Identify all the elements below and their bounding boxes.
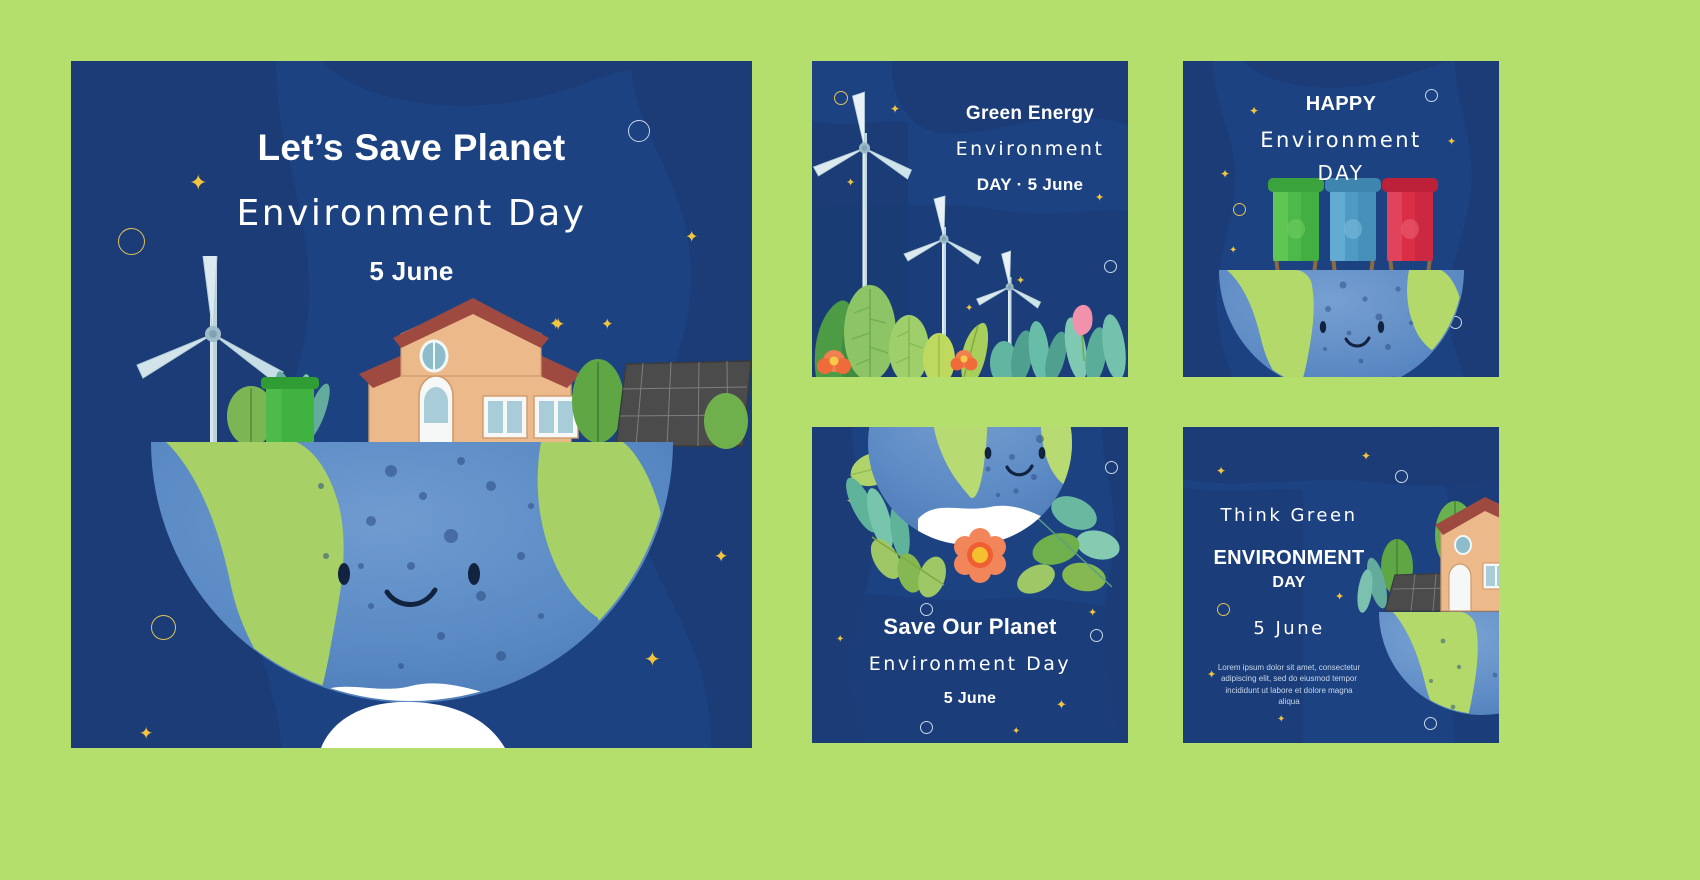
leaves-and-flowers-icon	[815, 285, 1128, 377]
save-line-2: Environment Day	[812, 653, 1128, 676]
think-body-text: Lorem ipsum dolor sit amet, consectetur …	[1189, 662, 1389, 708]
decorative-ring	[684, 364, 708, 388]
orange-flower-icon	[951, 350, 978, 371]
think-line-3: DAY	[1189, 574, 1389, 592]
happy-line-1: HAPPY	[1183, 93, 1499, 116]
sparkle-icon: ✦	[1012, 727, 1020, 737]
green-energy-line-1: Green Energy	[940, 103, 1120, 125]
green-energy-line-2: Environment	[940, 138, 1120, 161]
sparkle-icon: ✦	[1421, 186, 1430, 197]
orange-flower-icon	[817, 350, 851, 374]
recycle-bin-icon	[261, 377, 319, 444]
green-energy-post[interactable]: ✦ ✦ ✦ ✦ ✦	[812, 61, 1128, 377]
sparkle-icon: ✦	[139, 726, 153, 743]
house-icon	[1435, 497, 1499, 611]
decorative-ring	[1104, 260, 1117, 273]
orange-flower-icon	[954, 528, 1006, 583]
smiling-globe-icon	[151, 442, 673, 730]
sparkle-icon: ✦	[1361, 450, 1371, 462]
leaf-wreath-icon	[840, 446, 951, 601]
solar-panel-icon	[1385, 573, 1457, 611]
sparkle-icon: ✦	[1016, 275, 1025, 286]
decorative-ring	[834, 91, 848, 105]
smiling-globe-icon	[1219, 270, 1464, 377]
sparkle-icon: ✦	[1216, 465, 1226, 477]
sparkle-icon: ✦	[551, 317, 565, 334]
hero-text-block: Let’s Save Planet Environment Day 5 June	[71, 127, 752, 287]
sparkle-icon: ✦	[179, 441, 196, 461]
decorative-ring	[1105, 461, 1118, 474]
red-recycle-bin	[1382, 178, 1438, 261]
sparkle-icon: ✦	[1277, 715, 1285, 725]
think-line-2: ENVIRONMENT	[1189, 547, 1389, 570]
wind-turbine-icon	[814, 92, 912, 361]
hero-line-3: 5 June	[71, 257, 752, 287]
sparkle-icon: ✦	[644, 649, 661, 669]
sparkle-icon: ✦	[846, 177, 855, 188]
decorative-ring	[1031, 327, 1042, 338]
smiling-globe-icon	[1379, 612, 1499, 739]
happy-line-3: DAY	[1183, 161, 1499, 185]
poster-board: ✦ ✦ ✦ ✦ ✦ ✦ ✦ ✦ ✦	[0, 0, 1700, 880]
hero-illustration	[71, 256, 752, 748]
happy-environment-day-post[interactable]: ✦ ✦ ✦ ✦ ✦	[1183, 61, 1499, 377]
decorative-ring	[836, 316, 847, 327]
decorative-ring	[1395, 470, 1408, 483]
think-line-1: Think Green	[1189, 505, 1389, 527]
green-energy-line-3: DAY · 5 June	[940, 175, 1120, 195]
green-energy-text-block: Green Energy Environment DAY · 5 June	[940, 103, 1120, 194]
sparkle-icon: ✦	[846, 495, 856, 507]
save-line-1: Save Our Planet	[812, 614, 1128, 639]
green-recycle-bin	[1268, 178, 1324, 261]
leaf-wreath-icon	[1012, 490, 1122, 600]
decorative-ring	[151, 615, 176, 640]
sparkle-icon: ✦	[965, 304, 973, 314]
happy-text-block: HAPPY Environment DAY	[1183, 93, 1499, 185]
decorative-ring	[1449, 316, 1462, 329]
think-line-4: 5 June	[1189, 618, 1389, 640]
sparkle-icon: ✦	[890, 103, 900, 115]
bush-icon	[227, 369, 335, 446]
smiling-globe-icon	[868, 427, 1082, 545]
solar-panel-icon	[616, 361, 751, 446]
think-green-post[interactable]: ✦ ✦ ✦ ✦ ✦	[1183, 427, 1499, 743]
think-text-block: Think Green ENVIRONMENT DAY 5 June Lorem…	[1189, 505, 1389, 708]
house-icon	[359, 298, 581, 446]
sparkle-icon: ✦	[714, 549, 728, 566]
decorative-ring	[1233, 203, 1246, 216]
save-text-block: Save Our Planet Environment Day 5 June	[812, 614, 1128, 708]
bush-icon	[572, 359, 624, 446]
wind-turbine-icon	[904, 196, 981, 367]
polar-ice-cap	[71, 678, 752, 748]
lets-save-planet-post[interactable]: ✦ ✦ ✦ ✦ ✦ ✦ ✦ ✦ ✦	[71, 61, 752, 748]
happy-line-2: Environment	[1183, 128, 1499, 153]
hero-line-1: Let’s Save Planet	[71, 127, 752, 170]
decorative-ring	[1424, 717, 1437, 730]
blue-recycle-bin	[1325, 178, 1381, 261]
wind-turbine-icon	[977, 251, 1041, 373]
decorative-ring	[920, 721, 933, 734]
save-line-3: 5 June	[812, 690, 1128, 708]
sparkle-icon: ✦	[549, 316, 562, 332]
sparkle-icon: ✦	[601, 317, 614, 332]
save-our-planet-post[interactable]: ✦ ✦ ✦ ✦ ✦	[812, 427, 1128, 743]
sparkle-icon: ✦	[1229, 246, 1237, 256]
hero-line-2: Environment Day	[71, 192, 752, 235]
bush-icon	[704, 393, 748, 449]
